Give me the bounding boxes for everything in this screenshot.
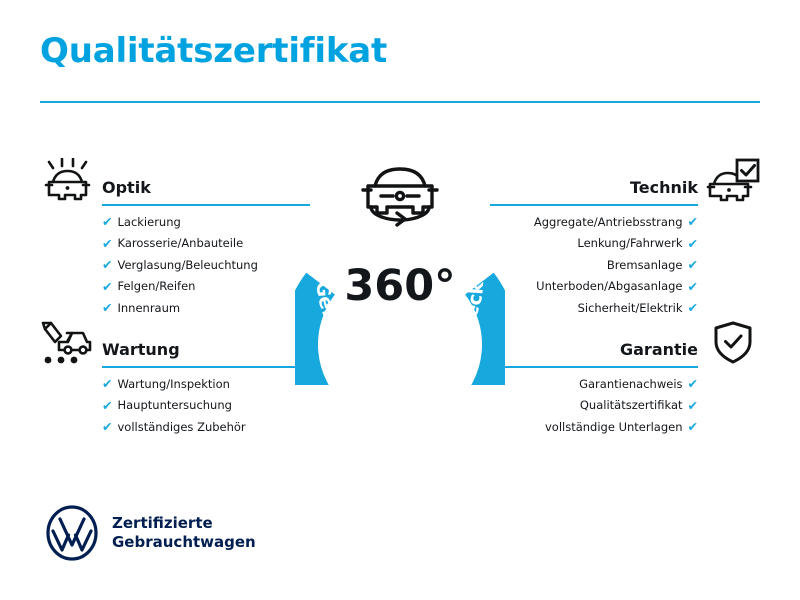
- list-item: ✔Verglasung/Beleuchtung: [40, 259, 310, 272]
- section-technik: Technik Aggregate/Antriebsstrang✔ Lenkun…: [490, 160, 760, 324]
- certificate-page: Qualitätszertifikat: [0, 0, 800, 600]
- section-technik-divider: [490, 204, 698, 206]
- list-item-label: Verglasung/Beleuchtung: [117, 260, 257, 272]
- check-icon: ✔: [688, 281, 698, 294]
- service-pen-car-icon: [40, 320, 94, 366]
- list-item-label: Wartung/Inspektion: [117, 379, 229, 391]
- list-item: ✔vollständiges Zubehör: [40, 421, 310, 434]
- footer-brand: Zertifizierte Gebrauchtwagen: [44, 505, 256, 561]
- car-checkbox-icon: [706, 158, 760, 204]
- section-optik: Optik ✔Lackierung ✔Karosserie/Anbauteile…: [40, 160, 310, 324]
- list-item-label: Innenraum: [117, 303, 180, 315]
- list-item: ✔Karosserie/Anbauteile: [40, 238, 310, 251]
- section-technik-header: Technik: [490, 160, 760, 206]
- section-optik-divider: [102, 204, 310, 206]
- footer-line-1: Zertifizierte: [112, 514, 256, 533]
- list-item-label: Qualitätszertifikat: [580, 400, 683, 412]
- section-wartung-divider: [102, 366, 310, 368]
- section-wartung: Wartung ✔Wartung/Inspektion ✔Hauptunters…: [40, 322, 310, 443]
- list-item: Garantienachweis✔: [490, 378, 760, 391]
- car-shine-icon: [40, 158, 94, 204]
- section-garantie-header: Garantie: [490, 322, 760, 368]
- check-icon: ✔: [102, 259, 112, 272]
- header-divider: [40, 101, 760, 103]
- list-item-label: Sicherheit/Elektrik: [578, 303, 683, 315]
- footer-brand-text: Zertifizierte Gebrauchtwagen: [112, 514, 256, 552]
- check-icon: ✔: [688, 421, 698, 434]
- check-icon: ✔: [688, 238, 698, 251]
- section-optik-header: Optik: [40, 160, 310, 206]
- check-icon: ✔: [102, 421, 112, 434]
- list-item: Unterboden/Abgasanlage✔: [490, 281, 760, 294]
- section-wartung-title: Wartung: [102, 342, 180, 358]
- check-icon: ✔: [102, 216, 112, 229]
- badge-360-check: Gebrauchtwagen-Check 360°: [295, 155, 505, 385]
- list-item-label: Hauptuntersuchung: [117, 400, 231, 412]
- list-item-label: Karosserie/Anbauteile: [117, 238, 243, 250]
- list-item-label: Felgen/Reifen: [117, 281, 195, 293]
- list-item-label: Lackierung: [117, 217, 180, 229]
- check-icon: ✔: [102, 238, 112, 251]
- volkswagen-logo: [44, 505, 100, 561]
- list-item: Qualitätszertifikat✔: [490, 400, 760, 413]
- section-garantie-title: Garantie: [620, 342, 698, 358]
- badge-center-label: 360°: [344, 261, 455, 311]
- check-icon: ✔: [688, 259, 698, 272]
- list-item-label: vollständige Unterlagen: [545, 422, 683, 434]
- check-icon: ✔: [102, 302, 112, 315]
- footer-line-2: Gebrauchtwagen: [112, 533, 256, 552]
- section-technik-list: Aggregate/Antriebsstrang✔ Lenkung/Fahrwe…: [490, 216, 760, 315]
- car-rotate-icon: [363, 169, 437, 225]
- shield-check-icon: [706, 320, 760, 366]
- list-item: Lenkung/Fahrwerk✔: [490, 238, 760, 251]
- section-garantie-divider: [490, 366, 698, 368]
- check-icon: ✔: [102, 378, 112, 391]
- list-item: ✔Innenraum: [40, 302, 310, 315]
- list-item: Bremsanlage✔: [490, 259, 760, 272]
- check-icon: ✔: [102, 281, 112, 294]
- list-item: vollständige Unterlagen✔: [490, 421, 760, 434]
- section-optik-title: Optik: [102, 180, 151, 196]
- check-icon: ✔: [688, 378, 698, 391]
- check-icon: ✔: [688, 400, 698, 413]
- list-item-label: Lenkung/Fahrwerk: [577, 238, 682, 250]
- list-item: ✔Felgen/Reifen: [40, 281, 310, 294]
- check-icon: ✔: [102, 400, 112, 413]
- list-item: Sicherheit/Elektrik✔: [490, 302, 760, 315]
- list-item-label: Aggregate/Antriebsstrang: [534, 217, 683, 229]
- list-item-label: Unterboden/Abgasanlage: [536, 281, 682, 293]
- list-item: ✔Lackierung: [40, 216, 310, 229]
- section-garantie: Garantie Garantienachweis✔ Qualitätszert…: [490, 322, 760, 443]
- list-item-label: Garantienachweis: [579, 379, 682, 391]
- section-garantie-list: Garantienachweis✔ Qualitätszertifikat✔ v…: [490, 378, 760, 434]
- check-icon: ✔: [688, 216, 698, 229]
- list-item: Aggregate/Antriebsstrang✔: [490, 216, 760, 229]
- section-technik-title: Technik: [630, 180, 698, 196]
- section-optik-list: ✔Lackierung ✔Karosserie/Anbauteile ✔Verg…: [40, 216, 310, 315]
- list-item-label: vollständiges Zubehör: [117, 422, 245, 434]
- section-wartung-header: Wartung: [40, 322, 310, 368]
- page-title: Qualitätszertifikat: [40, 34, 760, 70]
- section-wartung-list: ✔Wartung/Inspektion ✔Hauptuntersuchung ✔…: [40, 378, 310, 434]
- page-header: Qualitätszertifikat: [40, 34, 760, 70]
- check-icon: ✔: [688, 302, 698, 315]
- list-item: ✔Hauptuntersuchung: [40, 400, 310, 413]
- list-item-label: Bremsanlage: [607, 260, 683, 272]
- list-item: ✔Wartung/Inspektion: [40, 378, 310, 391]
